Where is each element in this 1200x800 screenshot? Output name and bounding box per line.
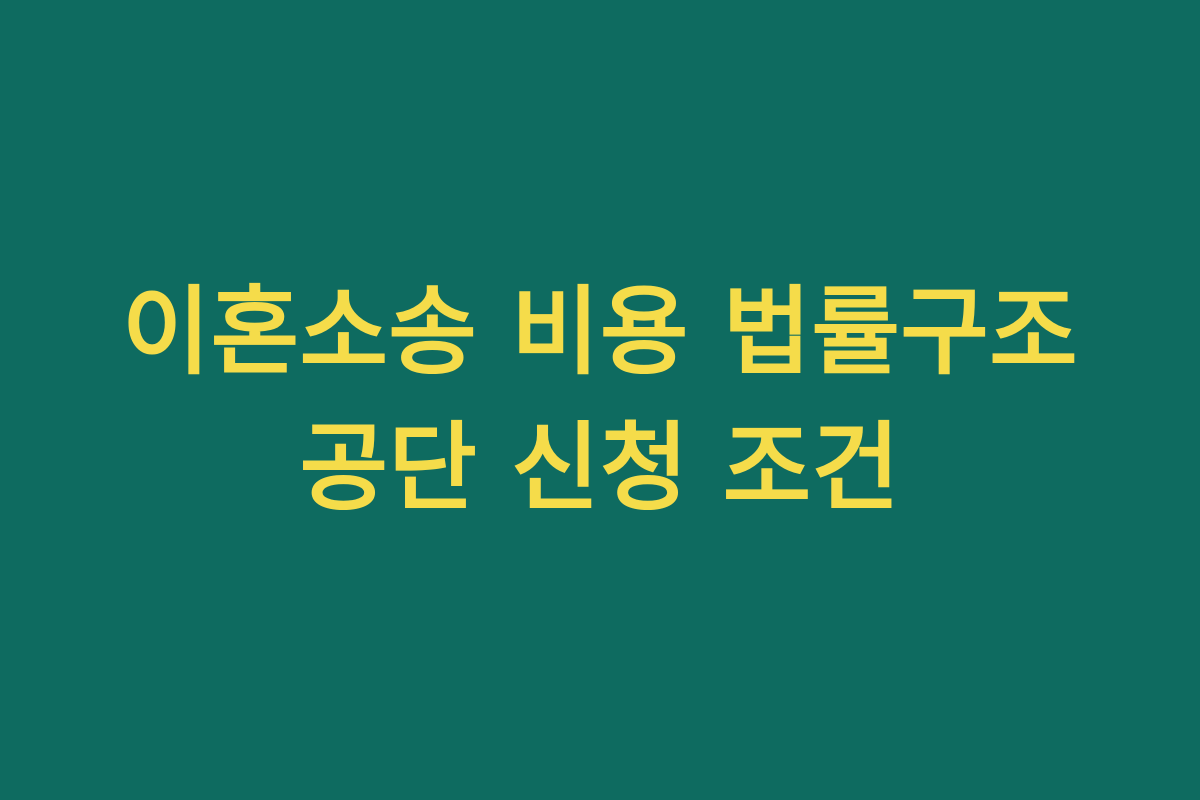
page-title-line-1: 이혼소송 비용 법률구조	[40, 264, 1160, 400]
page-title: 이혼소송 비용 법률구조 공단 신청 조건	[0, 264, 1200, 537]
page-title-line-2: 공단 신청 조건	[40, 400, 1160, 536]
title-card: 이혼소송 비용 법률구조 공단 신청 조건	[0, 0, 1200, 800]
